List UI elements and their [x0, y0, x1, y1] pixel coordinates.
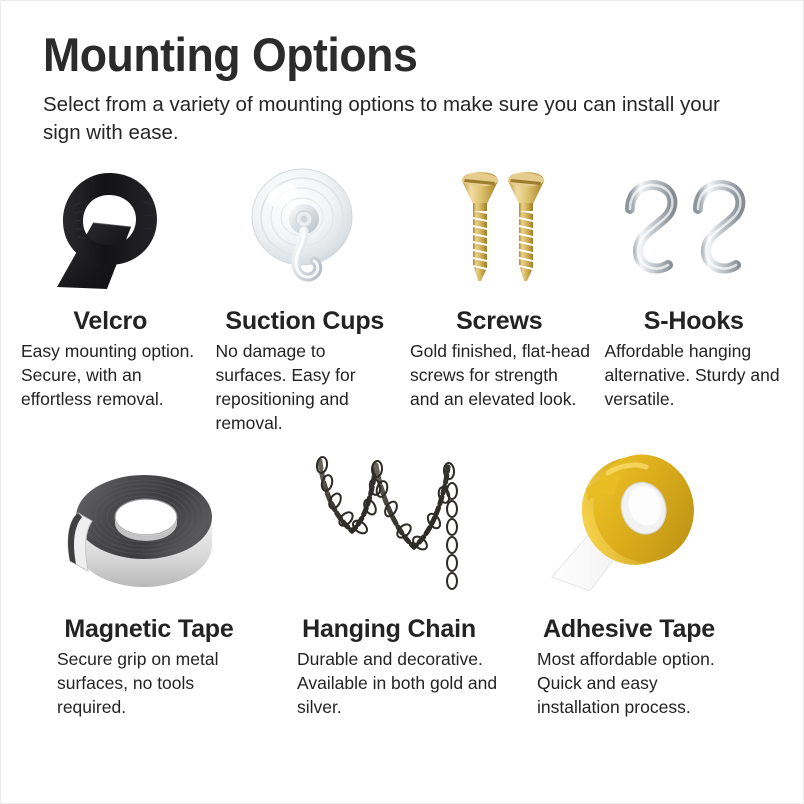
option-description: Secure grip on metal surfaces, no tools …	[33, 648, 265, 719]
suction-cup-art	[212, 161, 399, 301]
gold-screws-art	[406, 161, 593, 301]
s-hooks-art	[601, 161, 788, 301]
hanging-chain-icon	[294, 445, 484, 605]
option-card-screws[interactable]: Screws Gold finished, flat-head screws f…	[402, 161, 597, 411]
option-card-magnetic-tape[interactable]: Magnetic Tape Secure grip on metal surfa…	[29, 445, 269, 719]
option-heading: Adhesive Tape	[513, 615, 745, 644]
page-header: Mounting Options Select from a variety o…	[1, 1, 803, 147]
option-heading: Magnetic Tape	[33, 615, 265, 644]
option-description: No damage to surfaces. Easy for repositi…	[212, 340, 399, 435]
option-heading: Suction Cups	[212, 307, 399, 336]
option-card-suction-cups[interactable]: Suction Cups No damage to surfaces. Easy…	[208, 161, 403, 435]
hanging-chain-art	[273, 445, 505, 605]
adhesive-tape-art	[513, 445, 745, 605]
option-card-adhesive-tape[interactable]: Adhesive Tape Most affordable option. Qu…	[509, 445, 749, 719]
page-subtitle: Select from a variety of mounting option…	[43, 91, 733, 148]
options-row-1: Velcro Easy mounting option. Secure, wit…	[1, 147, 803, 435]
option-description: Gold finished, flat-head screws for stre…	[406, 340, 593, 411]
options-row-2: Magnetic Tape Secure grip on metal surfa…	[1, 435, 803, 719]
suction-cup-hook-icon	[230, 161, 380, 301]
option-heading: Velcro	[17, 307, 204, 336]
option-card-hanging-chain[interactable]: Hanging Chain Durable and decorative. Av…	[269, 445, 509, 719]
option-card-s-hooks[interactable]: S-Hooks Affordable hanging alternative. …	[597, 161, 792, 411]
mounting-options-page: Mounting Options Select from a variety o…	[0, 0, 804, 804]
option-heading: S-Hooks	[601, 307, 788, 336]
s-hooks-icon	[616, 161, 771, 301]
option-description: Easy mounting option. Secure, with an ef…	[17, 340, 204, 411]
adhesive-tape-roll-icon	[534, 445, 724, 605]
magnetic-tape-roll-icon	[54, 445, 244, 605]
velcro-strip-icon	[35, 161, 185, 301]
page-title: Mounting Options	[43, 29, 727, 81]
magnetic-tape-art	[33, 445, 265, 605]
gold-screws-icon	[424, 161, 574, 301]
option-card-velcro[interactable]: Velcro Easy mounting option. Secure, wit…	[13, 161, 208, 411]
option-heading: Screws	[406, 307, 593, 336]
option-description: Durable and decorative. Available in bot…	[273, 648, 505, 719]
option-description: Most affordable option. Quick and easy i…	[513, 648, 745, 719]
velcro-strip-art	[17, 161, 204, 301]
option-heading: Hanging Chain	[273, 615, 505, 644]
option-description: Affordable hanging alternative. Sturdy a…	[601, 340, 788, 411]
